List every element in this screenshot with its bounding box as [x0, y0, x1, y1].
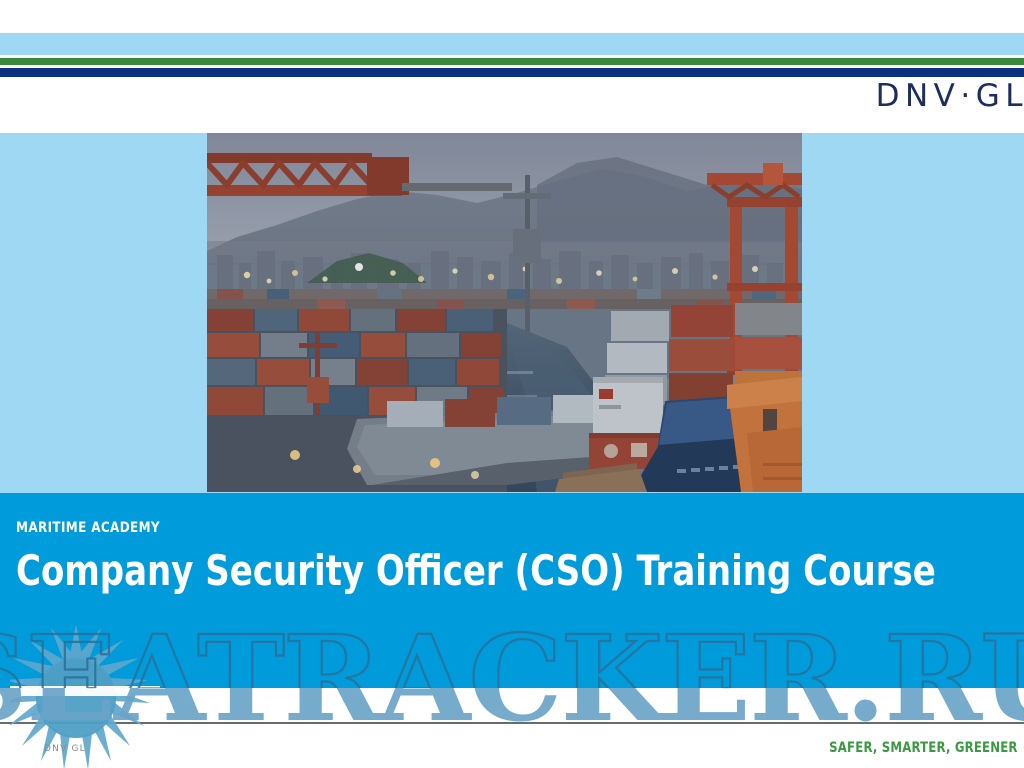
hero-photo — [207, 133, 802, 492]
header-stripe-light-blue — [0, 33, 1024, 55]
header-stripe-green — [0, 58, 1024, 65]
header-stripe-navy — [0, 68, 1024, 77]
page-title: Company Security Officer (CSO) Training … — [16, 549, 936, 593]
eyebrow-label: MARITIME ACADEMY — [16, 520, 160, 536]
slide-root: DNV·GL — [0, 0, 1024, 768]
sunburst-disc — [36, 658, 116, 738]
footer-tagline: SAFER, SMARTER, GREENER — [830, 740, 1018, 756]
sunburst-horizon — [10, 686, 160, 696]
sunburst-logo-label: DNV GL — [44, 744, 86, 754]
dnv-gl-logo: DNV·GL — [876, 78, 1024, 114]
slide-header: DNV·GL — [0, 0, 1024, 133]
